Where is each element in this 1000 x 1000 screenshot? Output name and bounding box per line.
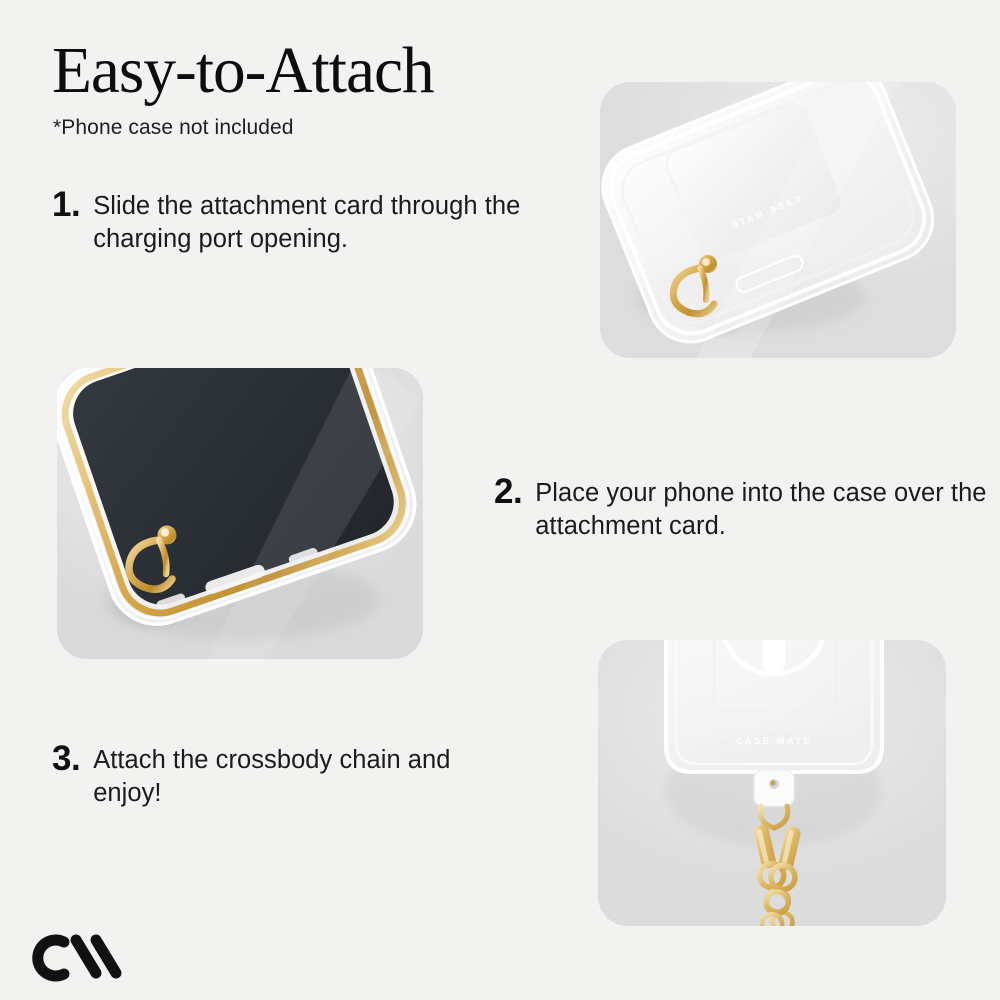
photo-chain-attached: CASE·MATE <box>598 640 946 926</box>
step-3-number: 3. <box>52 740 80 776</box>
case-mate-logo-mark <box>24 928 124 982</box>
photo-phone-in-case <box>57 368 423 659</box>
photo-3-illustration: CASE·MATE <box>598 640 946 926</box>
photo-1-illustration: CASE·MATE <box>600 82 956 358</box>
infographic: Easy-to-Attach *Phone case not included … <box>0 0 1000 1000</box>
case-mate-logo <box>24 928 124 982</box>
step-2: 2. Place your phone into the case over t… <box>494 473 994 543</box>
svg-text:CASE·MATE: CASE·MATE <box>736 736 812 746</box>
disclaimer-text: *Phone case not included <box>53 116 294 140</box>
step-2-text: Place your phone into the case over the … <box>522 473 994 543</box>
page-title: Easy-to-Attach <box>52 38 434 104</box>
step-3-text: Attach the crossbody chain and enjoy! <box>80 740 522 810</box>
photo-attachment-card-in-case: CASE·MATE <box>600 82 956 358</box>
step-3: 3. Attach the crossbody chain and enjoy! <box>52 740 522 810</box>
step-2-number: 2. <box>494 473 522 509</box>
photo-2-illustration <box>57 368 423 659</box>
step-1-text: Slide the attachment card through the ch… <box>80 186 592 256</box>
step-1: 1. Slide the attachment card through the… <box>52 186 592 256</box>
step-1-number: 1. <box>52 186 80 222</box>
